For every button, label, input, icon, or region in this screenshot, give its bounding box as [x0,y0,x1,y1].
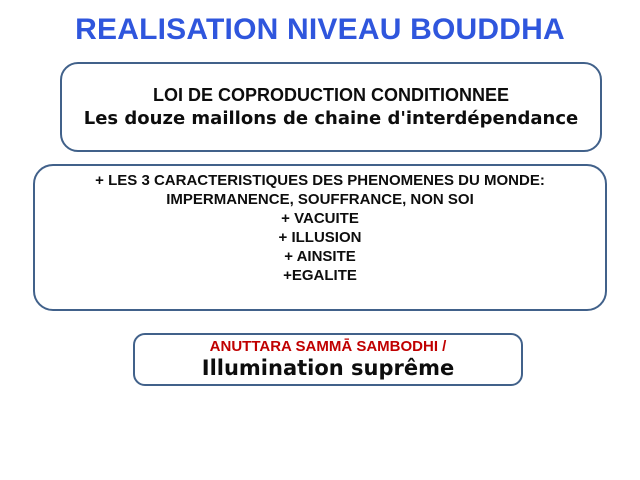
characteristic-line-6: +EGALITE [283,266,357,285]
characteristic-line-4: + ILLUSION [279,228,362,247]
characteristic-line-3: + VACUITE [281,209,359,228]
box-law: LOI DE COPRODUCTION CONDITIONNEE Les dou… [60,62,602,152]
enlightenment-french-term: Illumination suprême [202,356,455,381]
box-law-line-1: LOI DE COPRODUCTION CONDITIONNEE [153,84,509,107]
enlightenment-pali-term: ANUTTARA SAMMĀ SAMBODHI / [210,338,447,356]
box-characteristics: + LES 3 CARACTERISTIQUES DES PHENOMENES … [33,164,607,311]
slide-canvas: REALISATION NIVEAU BOUDDHA LOI DE COPROD… [0,0,640,480]
characteristic-line-5: + AINSITE [284,247,356,266]
characteristic-line-1: + LES 3 CARACTERISTIQUES DES PHENOMENES … [95,171,545,190]
characteristic-line-2: IMPERMANENCE, SOUFFRANCE, NON SOI [166,190,474,209]
box-enlightenment: ANUTTARA SAMMĀ SAMBODHI / Illumination s… [133,333,523,386]
page-title: REALISATION NIVEAU BOUDDHA [0,12,640,48]
box-law-line-2: Les douze maillons de chaine d'interdépe… [84,107,579,131]
